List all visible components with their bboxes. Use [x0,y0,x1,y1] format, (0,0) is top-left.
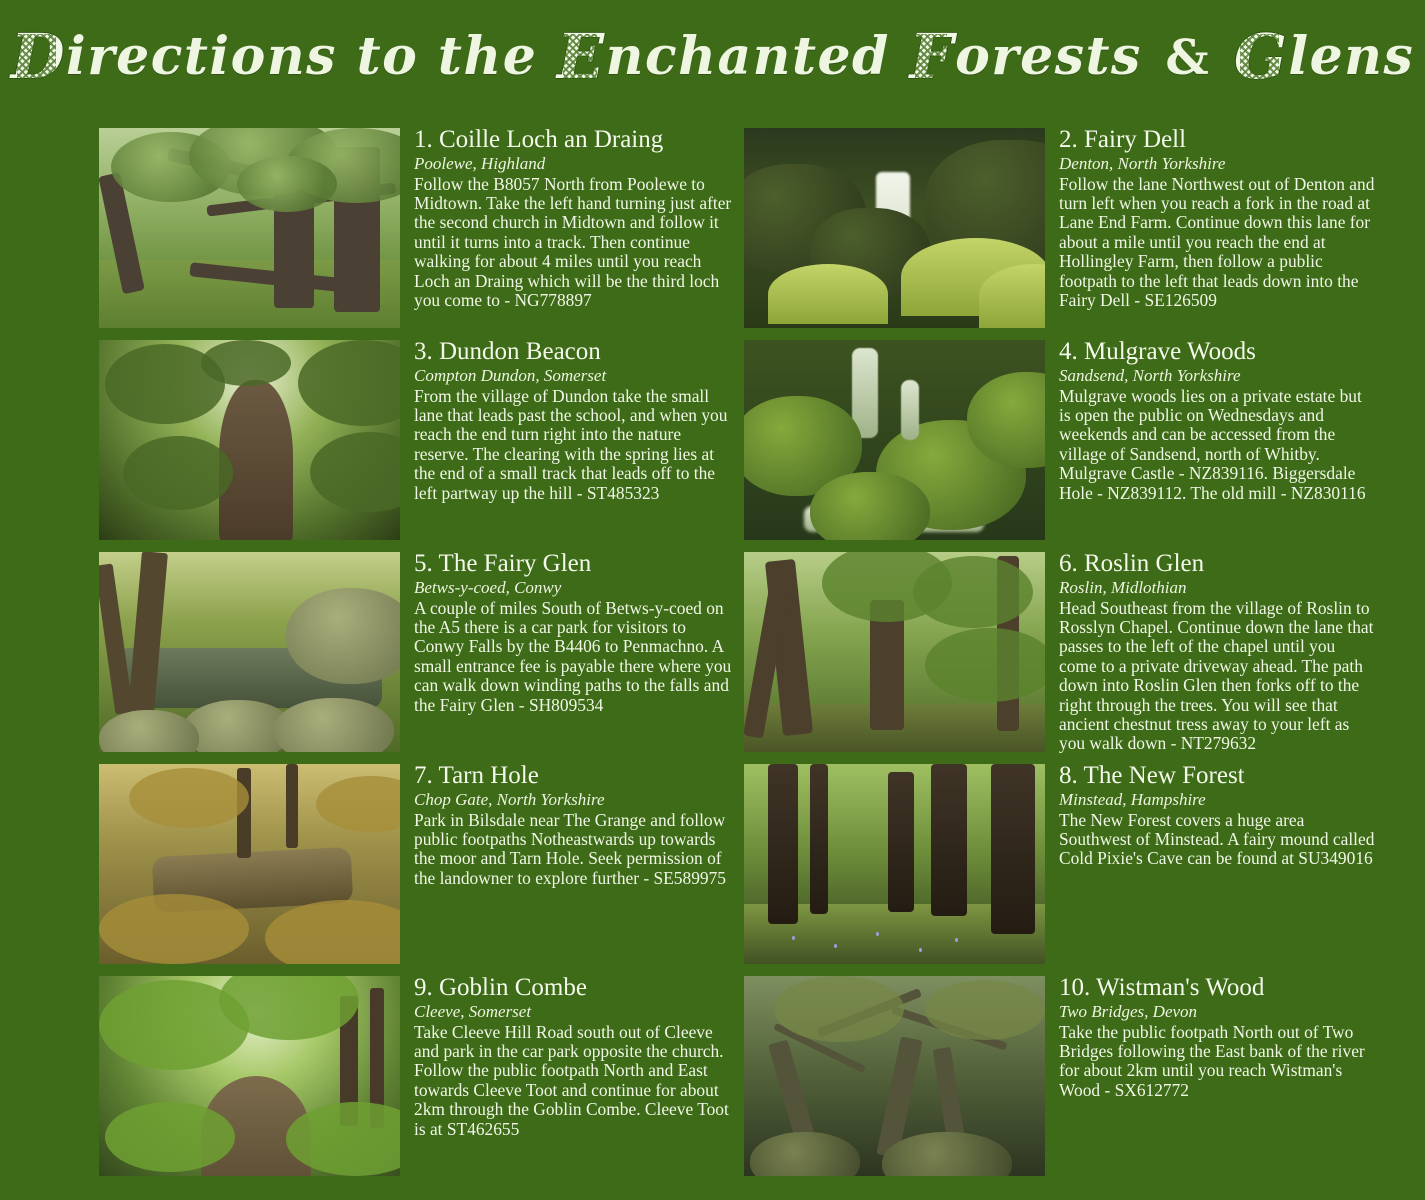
entry-directions: Head Southeast from the village of Rosli… [1059,599,1377,754]
entry-title: 6. Roslin Glen [1059,550,1377,577]
entry-title: 9. Goblin Combe [414,974,732,1001]
photo-wistmans-wood [744,976,1045,1176]
entry-location: Denton, North Yorkshire [1059,154,1377,174]
title-dropcap-g: G [1234,22,1288,91]
photo-the-fairy-glen [99,552,400,752]
entry-title: 3. Dundon Beacon [414,338,732,365]
title-dropcap-d: D [11,22,66,91]
page-title: Directions to the Enchanted Forests & Gl… [0,22,1425,91]
entry-location: Two Bridges, Devon [1059,1002,1377,1022]
entry-location: Sandsend, North Yorkshire [1059,366,1377,386]
entry-8: 8. The New Forest Minstead, Hampshire Th… [744,754,1389,966]
photo-coille-loch-an-draing [99,128,400,328]
photo-goblin-combe [99,976,400,1176]
entry-location: Compton Dundon, Somerset [414,366,732,386]
entry-title: 4. Mulgrave Woods [1059,338,1377,365]
entry-directions: From the village of Dundon take the smal… [414,387,732,503]
entry-1: 1. Coille Loch an Draing Poolewe, Highla… [99,118,744,330]
entry-location: Chop Gate, North Yorkshire [414,790,732,810]
entry-directions: Take the public footpath North out of Tw… [1059,1023,1377,1101]
entry-location: Cleeve, Somerset [414,1002,732,1022]
title-word-forests: orests [955,26,1142,87]
title-word-enchanted: nchanted [606,26,890,87]
entry-title: 10. Wistman's Wood [1059,974,1377,1001]
entry-4: 4. Mulgrave Woods Sandsend, North Yorksh… [744,330,1389,542]
title-dropcap-f: F [910,22,956,91]
entry-directions: Follow the lane Northwest out of Denton … [1059,175,1377,311]
entry-6: 6. Roslin Glen Roslin, Midlothian Head S… [744,542,1389,754]
entry-directions: Mulgrave woods lies on a private estate … [1059,387,1377,503]
title-dropcap-e: E [557,22,606,91]
entry-directions: A couple of miles South of Betws-y-coed … [414,599,732,715]
photo-dundon-beacon [99,340,400,540]
entry-title: 8. The New Forest [1059,762,1377,789]
title-ampersand: & [1161,30,1214,86]
entry-5: 5. The Fairy Glen Betws-y-coed, Conwy A … [99,542,744,754]
entry-location: Roslin, Midlothian [1059,578,1377,598]
entry-3: 3. Dundon Beacon Compton Dundon, Somerse… [99,330,744,542]
photo-mulgrave-woods [744,340,1045,540]
entry-location: Betws-y-coed, Conwy [414,578,732,598]
photo-tarn-hole [99,764,400,964]
entry-2: 2. Fairy Dell Denton, North Yorkshire Fo… [744,118,1389,330]
photo-the-new-forest [744,764,1045,964]
entry-title: 1. Coille Loch an Draing [414,126,732,153]
entry-10: 10. Wistman's Wood Two Bridges, Devon Ta… [744,966,1389,1178]
entry-directions: Follow the B8057 North from Poolewe to M… [414,175,732,311]
entry-directions: The New Forest covers a huge area Southw… [1059,811,1377,869]
entry-9: 9. Goblin Combe Cleeve, Somerset Take Cl… [99,966,744,1178]
entry-directions: Take Cleeve Hill Road south out of Cleev… [414,1023,732,1139]
photo-fairy-dell [744,128,1045,328]
entry-directions: Park in Bilsdale near The Grange and fol… [414,811,732,889]
entry-location: Minstead, Hampshire [1059,790,1377,810]
title-word-to: to [357,26,419,87]
entry-title: 2. Fairy Dell [1059,126,1377,153]
title-word-the: the [438,26,537,87]
title-word-glens: lens [1288,26,1414,87]
title-word-directions: irections [66,26,337,87]
entry-title: 7. Tarn Hole [414,762,732,789]
entry-grid: 1. Coille Loch an Draing Poolewe, Highla… [0,118,1425,1178]
entry-location: Poolewe, Highland [414,154,732,174]
photo-roslin-glen [744,552,1045,752]
entry-7: 7. Tarn Hole Chop Gate, North Yorkshire … [99,754,744,966]
entry-title: 5. The Fairy Glen [414,550,732,577]
